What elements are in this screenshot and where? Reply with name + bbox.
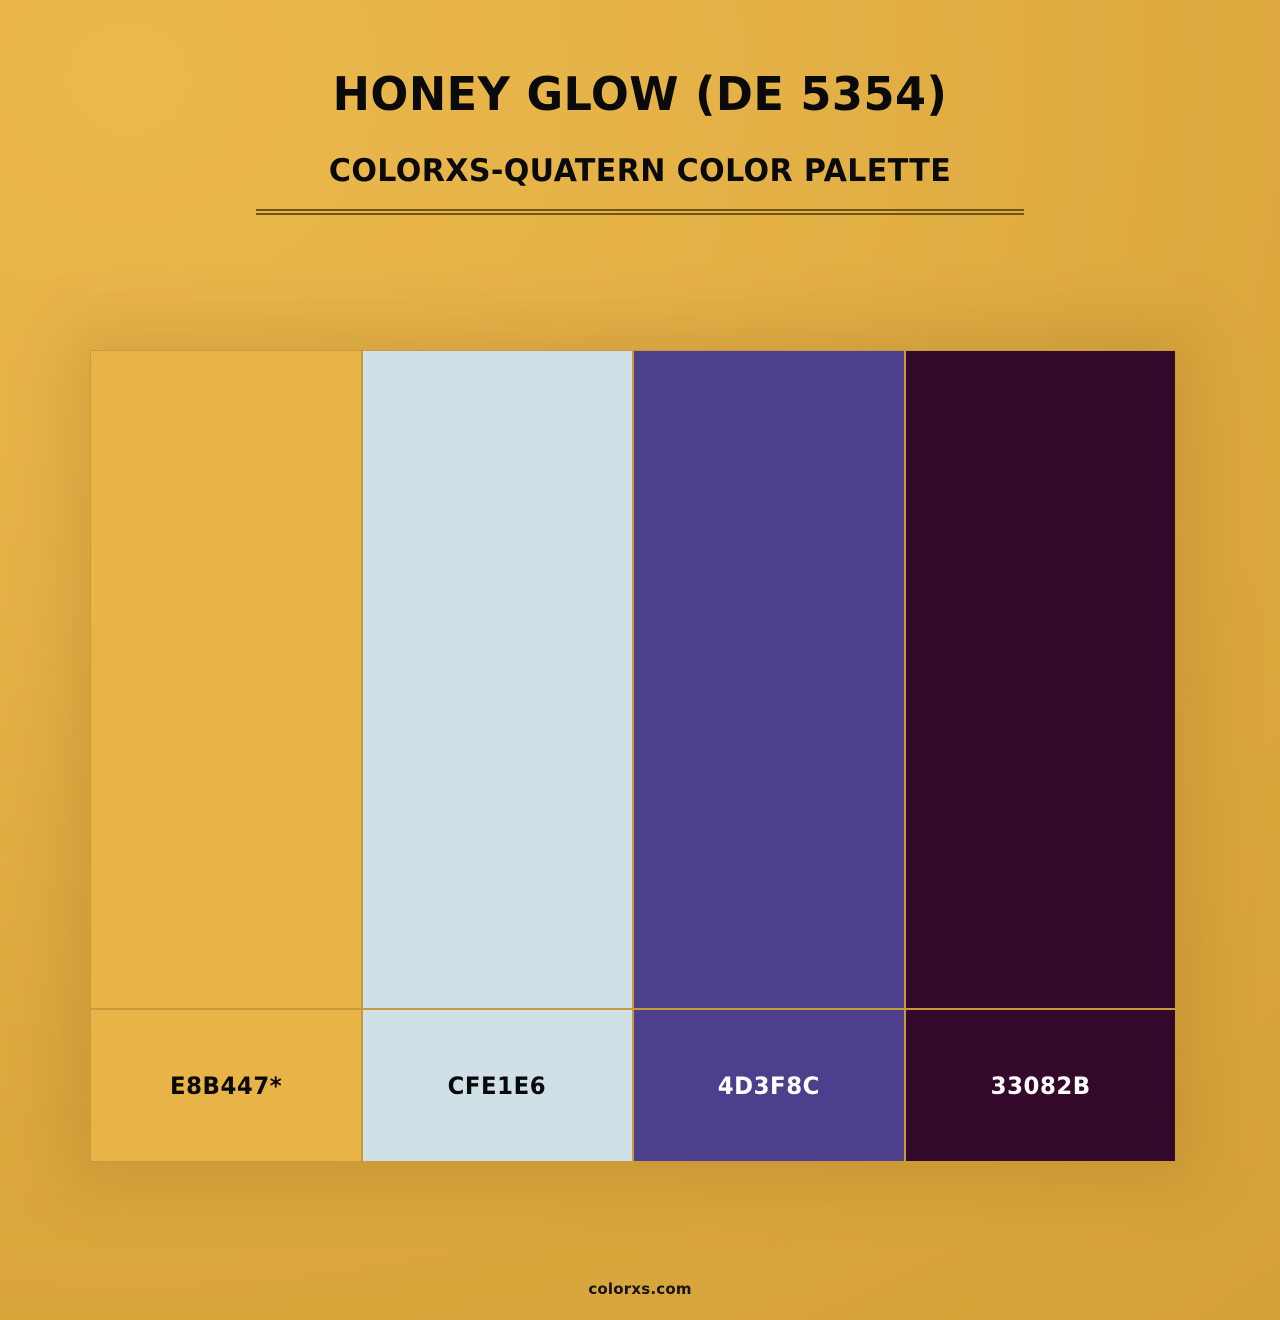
- color-palette: E8B447* CFE1E6 4D3F8C 33082B: [90, 350, 1176, 1162]
- swatch-label-row: E8B447* CFE1E6 4D3F8C 33082B: [91, 1008, 1175, 1161]
- footer-site-label: colorxs.com: [588, 1280, 691, 1298]
- divider-rule-top: [256, 209, 1024, 211]
- header: HONEY GLOW (DE 5354) COLORXS-QUATERN COL…: [0, 0, 1280, 215]
- color-label-cell-2[interactable]: CFE1E6: [363, 1010, 635, 1161]
- title-divider: [256, 209, 1024, 215]
- color-hex-label-2: CFE1E6: [448, 1072, 547, 1100]
- page-subtitle: COLORXS-QUATERN COLOR PALETTE: [19, 155, 1261, 188]
- color-swatch-2[interactable]: [363, 351, 635, 1008]
- color-swatch-4[interactable]: [906, 351, 1176, 1008]
- color-label-cell-3[interactable]: 4D3F8C: [634, 1010, 906, 1161]
- color-hex-label-1: E8B447*: [170, 1072, 282, 1100]
- color-hex-label-4: 33082B: [990, 1072, 1090, 1100]
- swatch-row: [91, 351, 1175, 1008]
- color-label-cell-4[interactable]: 33082B: [906, 1010, 1176, 1161]
- color-swatch-1[interactable]: [91, 351, 363, 1008]
- footer: colorxs.com: [0, 1279, 1280, 1298]
- page-title: HONEY GLOW (DE 5354): [19, 70, 1261, 119]
- color-hex-label-3: 4D3F8C: [718, 1072, 820, 1100]
- color-label-cell-1[interactable]: E8B447*: [91, 1010, 363, 1161]
- divider-rule-bottom: [256, 213, 1024, 215]
- page-root: HONEY GLOW (DE 5354) COLORXS-QUATERN COL…: [0, 0, 1280, 1320]
- color-swatch-3[interactable]: [634, 351, 906, 1008]
